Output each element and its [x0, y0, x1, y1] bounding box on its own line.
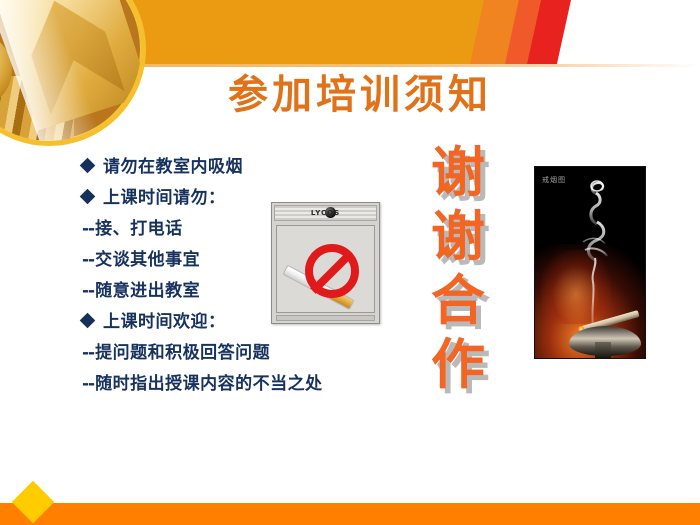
- diamond-bullet-icon: [80, 189, 96, 205]
- list-item: -- 提问题和积极回答问题: [82, 338, 382, 369]
- list-item-label: 交谈其他事宜: [95, 245, 200, 270]
- footer-band: [0, 503, 700, 525]
- dash-bullet-icon: --: [82, 343, 94, 363]
- thanks-char: 合: [420, 268, 496, 332]
- list-item-label: 提问题和积极回答问题: [95, 338, 270, 363]
- dash-bullet-icon: --: [82, 374, 94, 394]
- list-item: 请勿在教室内吸烟: [82, 152, 382, 183]
- diamond-bullet-icon: [80, 158, 96, 174]
- diamond-bullet-icon: [80, 313, 96, 329]
- no-smoking-titlebar: LYCOS: [274, 205, 377, 221]
- dash-bullet-icon: --: [82, 250, 94, 270]
- thanks-char: 作: [420, 332, 496, 396]
- anti-smoking-poster: 戒烟图: [534, 166, 646, 359]
- list-item-label: 请勿在教室内吸烟: [103, 152, 243, 177]
- thanks-char: 谢: [420, 140, 496, 204]
- list-item-label: 接、打电话: [95, 214, 183, 239]
- lycos-brand-label: LYCOS: [311, 209, 340, 217]
- list-item: -- 随时指出授课内容的不当之处: [82, 369, 382, 400]
- thanks-char: 谢: [420, 204, 496, 268]
- smoke-figure: [571, 178, 617, 328]
- no-smoking-canvas: [276, 225, 375, 313]
- poster-ashtray-stem: [595, 342, 611, 358]
- poster-watermark: 戒烟图: [542, 175, 566, 185]
- no-smoking-image: LYCOS: [271, 202, 380, 324]
- list-item-label: 上课时间请勿：: [103, 183, 226, 208]
- thanks-vertical-text: 谢 谢 合 作: [420, 140, 496, 396]
- list-item-label: 上课时间欢迎：: [103, 307, 226, 332]
- slide-canvas: 参加培训须知 请勿在教室内吸烟 上课时间请勿： -- 接、打电话 -- 交谈其他…: [0, 0, 700, 525]
- page-title: 参加培训须知: [150, 68, 570, 122]
- list-item-label: 随时指出授课内容的不当之处: [95, 369, 323, 394]
- dash-bullet-icon: --: [82, 281, 94, 301]
- dash-bullet-icon: --: [82, 219, 94, 239]
- no-smoking-statusbar: [276, 315, 375, 321]
- list-item-label: 随意进出教室: [95, 276, 200, 301]
